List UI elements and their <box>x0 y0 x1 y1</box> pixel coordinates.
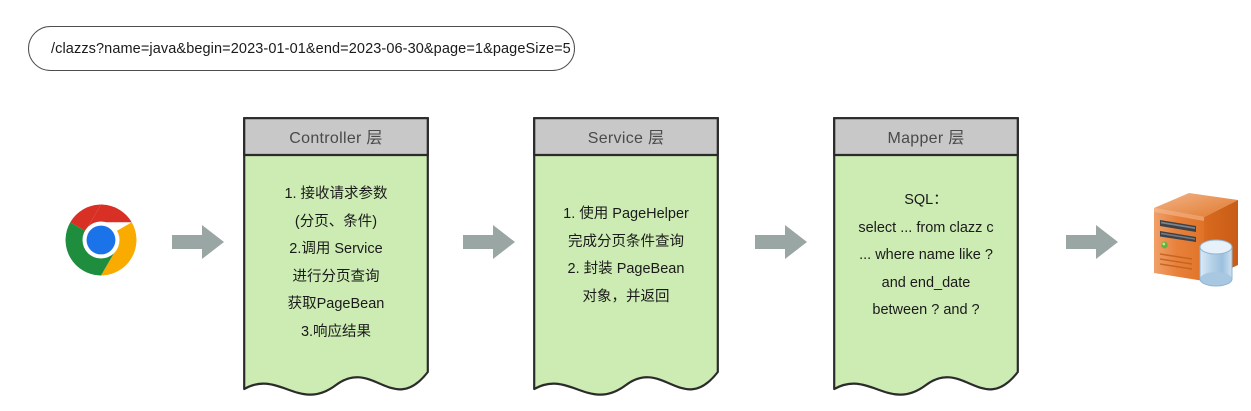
request-url-pill: /clazzs?name=java&begin=2023-01-01&end=2… <box>28 26 575 71</box>
arrow-service-to-mapper <box>755 224 807 260</box>
request-url-text: /clazzs?name=java&begin=2023-01-01&end=2… <box>29 41 571 57</box>
layer-controller: Controller 层 1. 接收请求参数 (分页、条件) 2.调用 Serv… <box>243 117 429 400</box>
arrow-mapper-to-database <box>1066 224 1118 260</box>
layer-service: Service 层 1. 使用 PageHelper 完成分页条件查询 2. 封… <box>533 117 719 400</box>
arrow-client-to-controller <box>172 224 224 260</box>
layer-mapper: Mapper 层 SQL： select ... from clazz c ..… <box>833 117 1019 400</box>
chrome-browser-icon <box>64 203 138 277</box>
arrow-controller-to-service <box>463 224 515 260</box>
server-database-icon <box>1148 191 1244 291</box>
diagram-canvas: /clazzs?name=java&begin=2023-01-01&end=2… <box>0 0 1251 411</box>
